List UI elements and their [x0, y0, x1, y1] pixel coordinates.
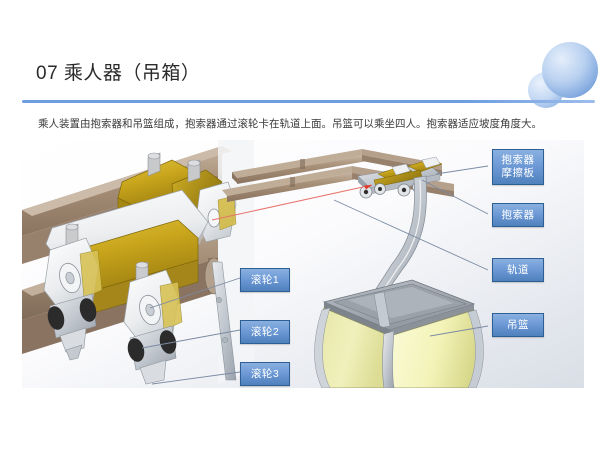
callout-line: 抱索器: [502, 154, 535, 167]
title-divider: [22, 100, 595, 103]
callout-roller-1[interactable]: 滚轮1: [240, 268, 290, 292]
callout-line: 摩擦板: [502, 167, 535, 180]
callout-cabin[interactable]: 吊篮: [492, 313, 544, 337]
callout-gripper[interactable]: 抱索器: [492, 203, 544, 227]
callout-line: 滚轮1: [251, 274, 279, 287]
callout-line: 吊篮: [507, 319, 529, 332]
header-decoration: [510, 36, 600, 108]
slide-root: 07 乘人器（吊箱） 乘人装置由抱索器和吊篮组成，抱索器通过滚轮卡在轨道上面。吊…: [0, 0, 600, 450]
callout-line: 滚轮3: [251, 368, 279, 381]
callout-roller-3[interactable]: 滚轮3: [240, 362, 290, 386]
callout-line: 抱索器: [502, 209, 535, 222]
page-title: 07 乘人器（吊箱）: [36, 58, 200, 85]
circle-decoration-large: [542, 42, 598, 98]
callout-gripper-friction-plate[interactable]: 抱索器 摩擦板: [492, 149, 544, 185]
callout-roller-2[interactable]: 滚轮2: [240, 320, 290, 344]
callout-track[interactable]: 轨道: [492, 258, 544, 282]
callout-line: 轨道: [507, 264, 529, 277]
page-subtitle: 乘人装置由抱索器和吊篮组成，抱索器通过滚轮卡在轨道上面。吊篮可以乘坐四人。抱索器…: [38, 117, 578, 131]
callout-line: 滚轮2: [251, 326, 279, 339]
